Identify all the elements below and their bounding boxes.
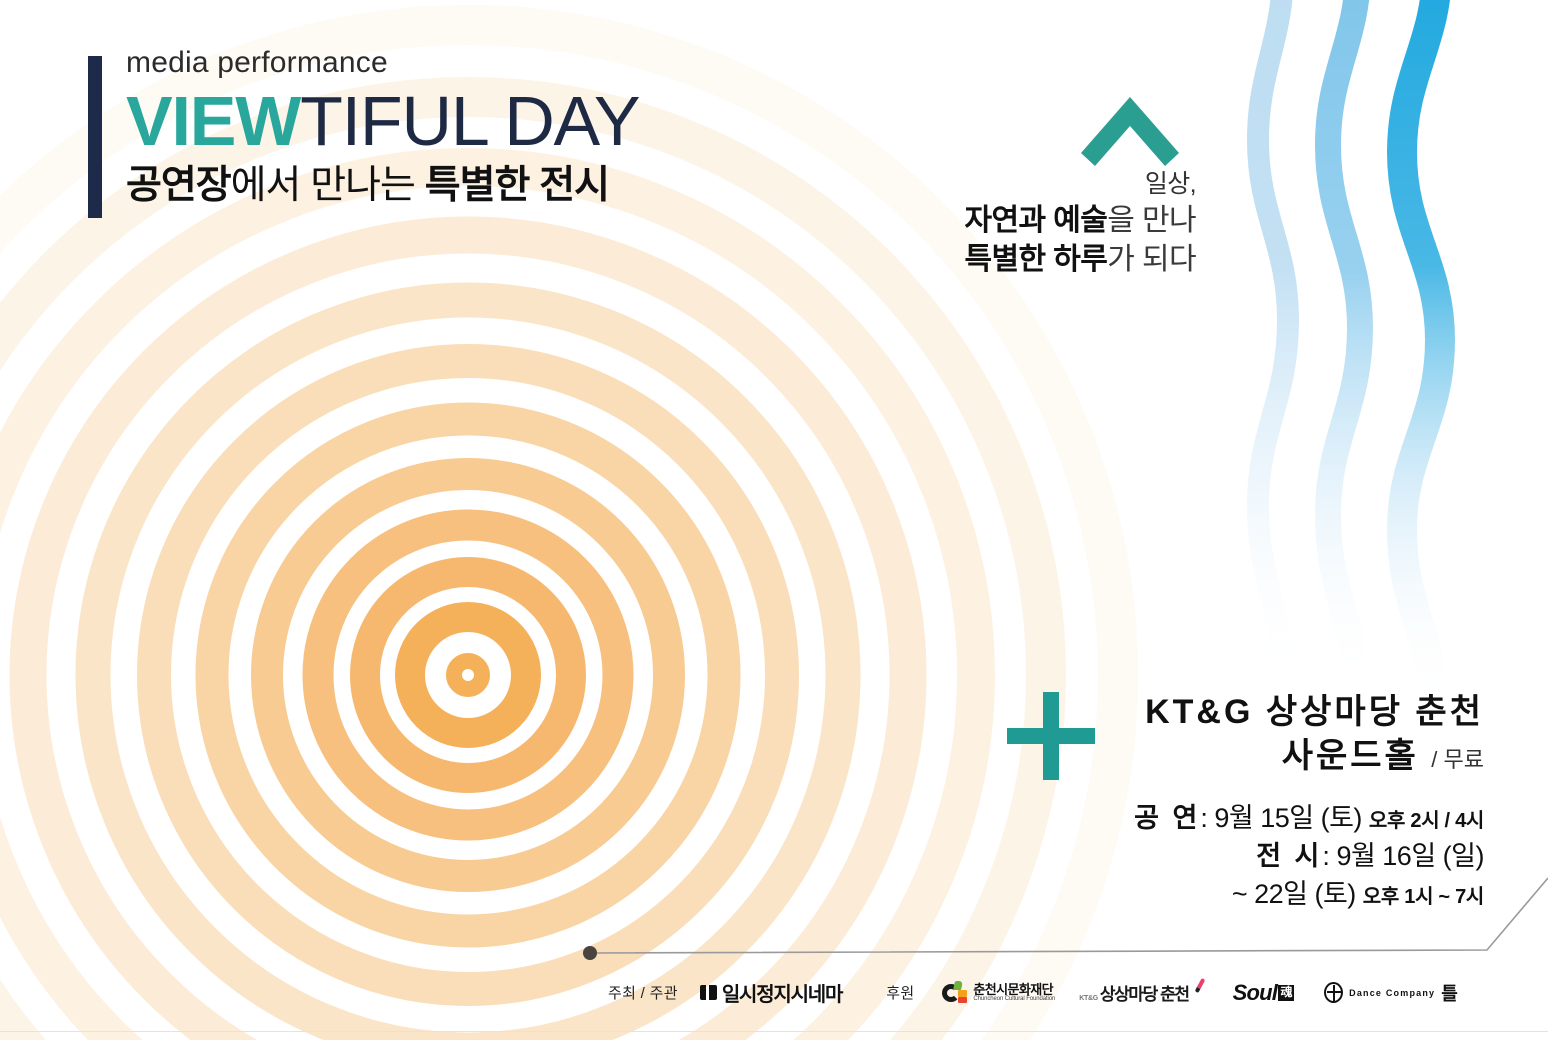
eyebrow-text: media performance (126, 48, 639, 78)
logo-soul: Soul 魂 (1233, 980, 1294, 1006)
tagline-line-3: 특별한 하루가 되다 (965, 240, 1197, 279)
schedule-label: 전 시 (1256, 841, 1322, 871)
page-title: VIEWTIFUL DAY (126, 87, 639, 156)
schedule-row: ~ 22일 (토) 오후 1시 ~ 7시 (1134, 876, 1484, 914)
schedule-separator: : (1322, 841, 1329, 871)
ilsijeongji-mark-icon (700, 985, 717, 1000)
schedule-value: 9월 16일 (일) (1336, 841, 1484, 871)
poster-canvas: media performance VIEWTIFUL DAY 공연장에서 만나… (0, 0, 1548, 1040)
soul-badge: 魂 (1278, 985, 1294, 1001)
ccf-name-ko: 춘천시문화재단 (973, 983, 1055, 997)
accent-bar (88, 56, 102, 218)
schedule-label: 공 연 (1134, 803, 1200, 833)
venue-line-2: 사운드홀 (1282, 737, 1419, 775)
tagline-line-2-regular-1: 을 (1107, 204, 1142, 237)
dance-company-mark-icon (1324, 982, 1343, 1003)
ssmd-name: 상상마당 춘천 (1100, 980, 1189, 1005)
tagline-line-1: 일상, (965, 168, 1197, 201)
subtitle-bold-1: 공연장 (126, 164, 231, 207)
subtitle-bold-2: 특별한 전시 (425, 164, 609, 207)
venue-name: KT&G 상상마당 춘천 사운드홀 / 무료 (1134, 690, 1484, 778)
venue-line-2-row: 사운드홀 / 무료 (1134, 734, 1484, 778)
tagline-line-3-bold: 특별한 하루 (965, 243, 1108, 276)
venue-line-1: KT&G 상상마당 춘천 (1134, 690, 1484, 734)
host-label: 주최 / 주관 (608, 982, 678, 1003)
subtitle-text: 공연장에서 만나는 특별한 전시 (126, 166, 639, 207)
tagline-line-2: 자연과 예술을 만나 (965, 201, 1197, 240)
tagline-line-2-bold-2: 예술 (1053, 204, 1107, 237)
venue-schedule-block: KT&G 상상마당 춘천 사운드홀 / 무료 공 연: 9월 15일 (토) 오… (1134, 690, 1484, 914)
schedule-separator: : (1200, 803, 1207, 833)
schedule-value: ~ 22일 (토) (1232, 879, 1356, 909)
dance-company-name: Dance Company (1349, 988, 1435, 998)
schedule-detail: 오후 1시 ~ 7시 (1363, 886, 1484, 908)
tagline-line-2-bold-1: 자연과 (965, 204, 1054, 237)
title-rest: TIFUL DAY (300, 82, 639, 160)
ssmd-prefix: KT&G (1079, 995, 1098, 1002)
schedule-value: 9월 15일 (토) (1214, 803, 1362, 833)
title-highlight: VIEW (126, 82, 300, 160)
schedule-row: 전 시: 9월 16일 (일) (1134, 838, 1484, 876)
sponsor-strip: 주최 / 주관 일시정지시네마 후원 춘천시문화재단 Chuncheon Cul… (608, 978, 1457, 1007)
schedule-list: 공 연: 9월 15일 (토) 오후 2시 / 4시 전 시: 9월 16일 (… (1134, 800, 1484, 913)
ccf-name-en: Chuncheon Cultural Foundation (973, 996, 1055, 1002)
ccf-mark-icon (942, 981, 968, 1005)
venue-price: / 무료 (1431, 747, 1484, 772)
tagline-line-2-regular-2: 만나 (1142, 204, 1196, 237)
brush-icon (1191, 980, 1211, 1000)
tagline-line-3-regular: 가 되다 (1107, 243, 1196, 276)
soul-name: Soul (1233, 980, 1277, 1006)
schedule-row: 공 연: 9월 15일 (토) 오후 2시 / 4시 (1134, 800, 1484, 838)
host-logo-text: 일시정지시네마 (722, 978, 842, 1007)
schedule-detail: 오후 2시 / 4시 (1369, 810, 1484, 832)
subtitle-regular: 에서 만나는 (231, 164, 425, 207)
logo-sangsangmadang-chuncheon: KT&G 상상마당 춘천 (1079, 980, 1210, 1005)
tagline-block: 일상, 자연과 예술을 만나 특별한 하루가 되다 (965, 168, 1197, 279)
logo-chuncheon-cultural-foundation: 춘천시문화재단 Chuncheon Cultural Foundation (942, 981, 1055, 1005)
logo-ilsijeongji-cinema: 일시정지시네마 (700, 978, 842, 1007)
dance-company-suffix: 틀 (1441, 980, 1457, 1006)
logo-dance-company-teul: Dance Company 틀 (1324, 980, 1457, 1006)
support-label: 후원 (886, 982, 914, 1003)
bottom-divider (0, 1031, 1548, 1032)
